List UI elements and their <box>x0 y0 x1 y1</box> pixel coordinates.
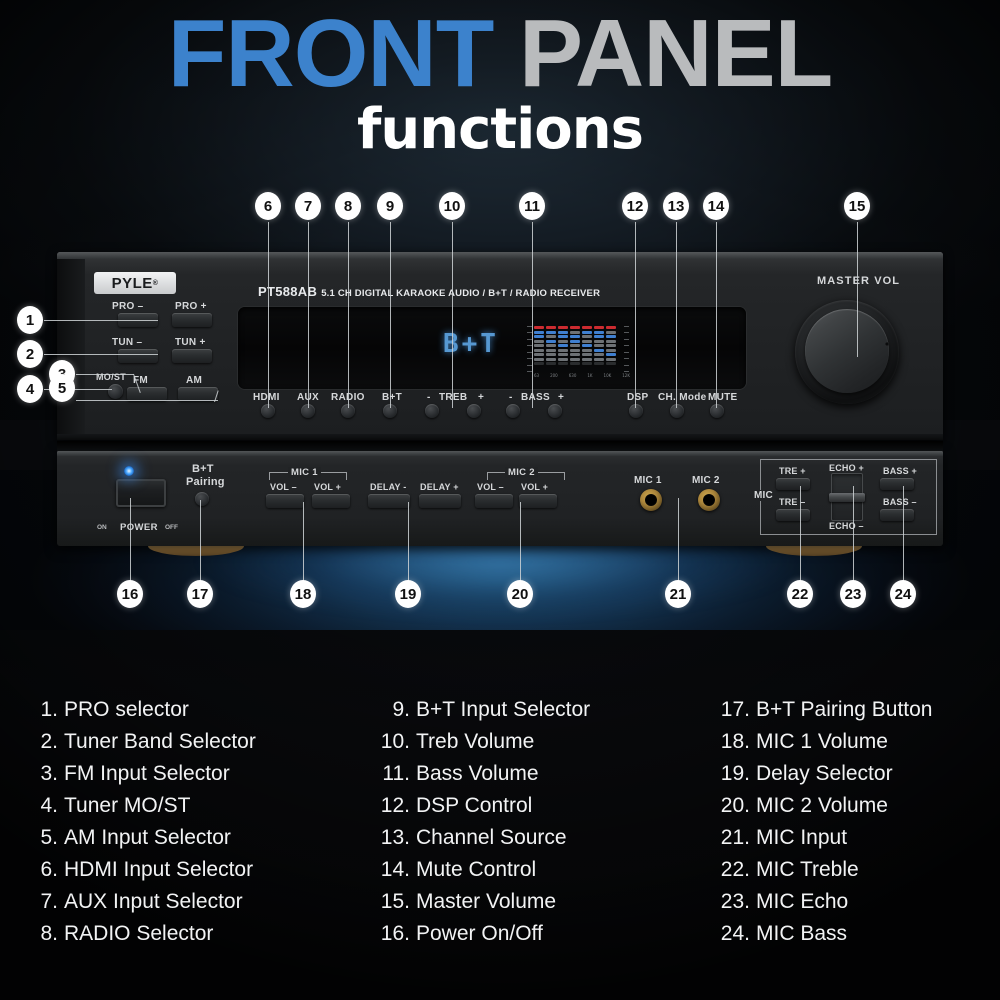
legend-item: 23.MIC Echo <box>716 886 932 918</box>
button-mic-tre-plus[interactable] <box>776 478 810 490</box>
label-mic-tre-plus: TRE + <box>779 466 806 476</box>
leader-7 <box>308 222 309 408</box>
label-bass-minus: - <box>509 392 513 403</box>
button-mic1-vol-minus[interactable] <box>266 494 304 508</box>
callout-marker-21: 21 <box>665 580 691 608</box>
legend-item: 4.Tuner MO/ST <box>24 790 256 822</box>
legend-item-number: 24. <box>716 918 750 950</box>
leader-17 <box>200 500 201 582</box>
leader-16 <box>130 498 131 582</box>
legend-item-label: MIC Bass <box>756 922 847 945</box>
legend-item: 22.MIC Treble <box>716 854 932 886</box>
legend-item-number: 7. <box>24 886 58 918</box>
legend-item: 6.HDMI Input Selector <box>24 854 256 886</box>
label-mic-echo-minus: ECHO – <box>829 521 864 531</box>
leader-13 <box>676 222 677 408</box>
legend-item: 18.MIC 1 Volume <box>716 726 932 758</box>
label-mic2-vol-minus: VOL – <box>477 482 504 492</box>
legend-item-label: Mute Control <box>416 858 536 881</box>
spectrum-analyzer <box>534 326 618 372</box>
spectrum-right-scale <box>624 326 629 372</box>
leader-19 <box>408 502 409 582</box>
vfd-display: B+T <box>238 307 746 389</box>
legend-item: 12.DSP Control <box>376 790 590 822</box>
callout-marker-23: 23 <box>840 580 866 608</box>
callout-marker-19: 19 <box>395 580 421 608</box>
legend-item: 24.MIC Bass <box>716 918 932 950</box>
legend-item-label: Delay Selector <box>756 762 893 785</box>
callout-marker-18: 18 <box>290 580 316 608</box>
legend-item-label: AUX Input Selector <box>64 890 243 913</box>
chassis-left-edge <box>57 259 85 440</box>
legend-item-label: AM Input Selector <box>64 826 231 849</box>
legend-item: 1.PRO selector <box>24 694 256 726</box>
leader-20 <box>520 502 521 582</box>
leader-2 <box>44 354 158 355</box>
spectrum-column <box>546 326 556 372</box>
brand-logo: PYLE® <box>94 272 176 294</box>
knob-mo-st[interactable] <box>108 384 123 399</box>
knob-bass-minus[interactable] <box>506 404 520 418</box>
button-mic2-vol-minus[interactable] <box>475 494 513 508</box>
leader-5a <box>76 400 218 401</box>
label-treb-minus: - <box>427 392 431 403</box>
legend-column-2: 9.B+T Input Selector10.Treb Volume11.Bas… <box>376 694 590 950</box>
brand-logo-text: PYLE <box>112 275 153 292</box>
legend-item-label: MIC Treble <box>756 858 859 881</box>
callout-marker-8: 8 <box>335 192 361 220</box>
callout-marker-13: 13 <box>663 192 689 220</box>
label-mic2-jack: MIC 2 <box>692 475 720 486</box>
label-mic-section: MIC <box>752 490 775 501</box>
legend-item-number: 23. <box>716 886 750 918</box>
leader-6 <box>268 222 269 408</box>
knob-master-volume[interactable] <box>795 300 899 404</box>
spectrum-column <box>558 326 568 372</box>
leader-14 <box>716 222 717 408</box>
leader-11 <box>532 222 533 408</box>
knob-bass-plus[interactable] <box>548 404 562 418</box>
button-mic-tre-minus[interactable] <box>776 509 810 521</box>
label-power-on: ON <box>97 524 107 531</box>
legend-column-3: 17.B+T Pairing Button18.MIC 1 Volume19.D… <box>716 694 932 950</box>
button-mic2-vol-plus[interactable] <box>519 494 557 508</box>
legend-item-number: 21. <box>716 822 750 854</box>
knob-indicator-dot <box>885 342 889 346</box>
label-am: AM <box>186 375 202 386</box>
legend-item: 9.B+T Input Selector <box>376 694 590 726</box>
label-delay-plus: DELAY + <box>420 482 459 492</box>
page-title: FRONT PANEL <box>0 8 1000 100</box>
legend-item: 10.Treb Volume <box>376 726 590 758</box>
chassis-top-lip <box>57 252 943 259</box>
label-tun-minus: TUN – <box>112 337 142 348</box>
jack-hole <box>645 494 657 506</box>
button-mute[interactable] <box>710 404 724 418</box>
label-master-volume: MASTER VOL <box>817 275 900 287</box>
legend-item-label: DSP Control <box>416 794 532 817</box>
legend-item-number: 15. <box>376 886 410 918</box>
brand-trademark: ® <box>153 280 159 287</box>
infographic-stage: FRONT PANEL functions PYLE® PT588AB5.1 C… <box>0 0 1000 1000</box>
callout-marker-5: 5 <box>49 374 75 402</box>
label-mic-echo-plus: ECHO + <box>829 463 864 473</box>
legend-item: 11.Bass Volume <box>376 758 590 790</box>
title-block: FRONT PANEL functions <box>0 8 1000 158</box>
jack-mic1[interactable] <box>640 489 662 511</box>
model-description: 5.1 CH DIGITAL KARAOKE AUDIO / B+T / RAD… <box>321 288 600 299</box>
label-bt-pairing-line2: Pairing <box>186 476 225 488</box>
button-mic-bass-minus[interactable] <box>880 509 914 521</box>
label-bt-pairing-line1: B+T <box>192 463 214 475</box>
slider-mic-echo[interactable] <box>831 473 863 521</box>
callout-marker-12: 12 <box>622 192 648 220</box>
label-power: POWER <box>120 522 158 533</box>
button-delay-minus[interactable] <box>368 494 410 508</box>
legend-item-label: MIC 2 Volume <box>756 794 888 817</box>
legend-item-number: 8. <box>24 918 58 950</box>
jack-hole <box>703 494 715 506</box>
button-mic-bass-plus[interactable] <box>880 478 914 490</box>
model-name-block: PT588AB5.1 CH DIGITAL KARAOKE AUDIO / B+… <box>258 284 600 299</box>
button-fm[interactable] <box>127 387 167 401</box>
spectrum-column <box>582 326 592 372</box>
legend-item: 5.AM Input Selector <box>24 822 256 854</box>
spectrum-tick: 10K <box>604 373 612 378</box>
legend-item: 20.MIC 2 Volume <box>716 790 932 822</box>
legend-item: 3.FM Input Selector <box>24 758 256 790</box>
label-tun-plus: TUN + <box>175 337 206 348</box>
legend-item-number: 11. <box>376 758 410 790</box>
legend-item-number: 20. <box>716 790 750 822</box>
spectrum-tick: 200 <box>550 373 558 378</box>
legend-item: 17.B+T Pairing Button <box>716 694 932 726</box>
leader-15 <box>857 222 858 357</box>
legend-item-label: MIC Input <box>756 826 847 849</box>
legend-item-label: Tuner Band Selector <box>64 730 256 753</box>
leader-22 <box>800 486 801 582</box>
legend-item: 7.AUX Input Selector <box>24 886 256 918</box>
legend-item-number: 16. <box>376 918 410 950</box>
button-bt-pairing[interactable] <box>195 492 209 506</box>
leader-21 <box>678 498 679 582</box>
leader-12 <box>635 222 636 408</box>
legend-item-label: Channel Source <box>416 826 567 849</box>
spectrum-tick: 12K <box>622 373 630 378</box>
spectrum-tick: 63 <box>534 373 539 378</box>
label-mic1-vol-plus: VOL + <box>314 482 341 492</box>
legend-item-label: Tuner MO/ST <box>64 794 190 817</box>
legend-item-label: Master Volume <box>416 890 556 913</box>
legend-item-number: 3. <box>24 758 58 790</box>
slider-thumb[interactable] <box>829 493 865 502</box>
legend-item-number: 14. <box>376 854 410 886</box>
legend-item-number: 1. <box>24 694 58 726</box>
spectrum-column <box>534 326 544 372</box>
callout-marker-6: 6 <box>255 192 281 220</box>
legend-item-number: 4. <box>24 790 58 822</box>
legend-item-label: RADIO Selector <box>64 922 213 945</box>
label-power-off: OFF <box>165 524 178 531</box>
legend-item-number: 12. <box>376 790 410 822</box>
legend-item-number: 17. <box>716 694 750 726</box>
leader-10 <box>452 222 453 408</box>
label-pro-plus: PRO + <box>175 301 207 312</box>
button-ch-mode[interactable] <box>670 404 684 418</box>
legend-item-number: 18. <box>716 726 750 758</box>
label-mic-tre-minus: TRE – <box>779 497 806 507</box>
leader-23 <box>853 486 854 582</box>
title-word-front: FRONT <box>168 0 494 107</box>
knob-treb-minus[interactable] <box>425 404 439 418</box>
legend-item: 15.Master Volume <box>376 886 590 918</box>
leader-18 <box>303 502 304 582</box>
spectrum-tick: 1K <box>587 373 592 378</box>
callout-marker-11: 11 <box>519 192 545 220</box>
callout-marker-7: 7 <box>295 192 321 220</box>
label-mic2-vol-plus: VOL + <box>521 482 548 492</box>
button-delay-plus[interactable] <box>419 494 461 508</box>
legend-item-number: 6. <box>24 854 58 886</box>
label-ch-mode: CH. Mode <box>658 392 707 403</box>
chassis-gap <box>57 441 943 451</box>
legend-item-number: 2. <box>24 726 58 758</box>
label-mic1-vol-minus: VOL – <box>270 482 297 492</box>
callout-marker-22: 22 <box>787 580 813 608</box>
button-mic1-vol-plus[interactable] <box>312 494 350 508</box>
leader-24 <box>903 486 904 582</box>
legend-item: 13.Channel Source <box>376 822 590 854</box>
label-delay-minus: DELAY - <box>370 482 406 492</box>
label-treb: TREB <box>439 392 467 403</box>
button-am[interactable] <box>178 387 218 401</box>
label-pro-minus: PRO – <box>112 301 144 312</box>
legend-item-label: FM Input Selector <box>64 762 230 785</box>
page-subtitle: functions <box>0 102 1000 158</box>
callout-marker-17: 17 <box>187 580 213 608</box>
callout-marker-1: 1 <box>17 306 43 334</box>
button-tun-plus[interactable] <box>172 349 212 363</box>
label-bt: B+T <box>382 392 402 403</box>
legend-item-label: MIC 1 Volume <box>756 730 888 753</box>
leader-1 <box>44 320 158 321</box>
label-mute: MUTE <box>708 392 738 403</box>
spectrum-column <box>570 326 580 372</box>
spectrum-column <box>606 326 616 372</box>
label-mic1-group: MIC 1 <box>288 467 321 478</box>
legend-item: 8.RADIO Selector <box>24 918 256 950</box>
label-mic2-group: MIC 2 <box>505 467 538 478</box>
legend-item-number: 10. <box>376 726 410 758</box>
label-dsp: DSP <box>627 392 648 403</box>
callout-marker-10: 10 <box>439 192 465 220</box>
leader-8 <box>348 222 349 408</box>
power-switch[interactable] <box>116 479 166 507</box>
label-bass-plus: + <box>558 392 564 403</box>
label-mic-bass-minus: BASS – <box>883 497 917 507</box>
legend-item-number: 9. <box>376 694 410 726</box>
legend-item-number: 13. <box>376 822 410 854</box>
callout-marker-20: 20 <box>507 580 533 608</box>
button-pro-plus[interactable] <box>172 313 212 327</box>
legend-item-label: Bass Volume <box>416 762 539 785</box>
legend-item-number: 5. <box>24 822 58 854</box>
legend-item-label: Power On/Off <box>416 922 543 945</box>
legend-item-label: B+T Pairing Button <box>756 698 932 721</box>
callout-marker-9: 9 <box>377 192 403 220</box>
legend-item-number: 22. <box>716 854 750 886</box>
legend-item-label: HDMI Input Selector <box>64 858 253 881</box>
callout-marker-14: 14 <box>703 192 729 220</box>
legend-item-label: MIC Echo <box>756 890 848 913</box>
button-tun-minus[interactable] <box>118 349 158 363</box>
label-mic-bass-plus: BASS + <box>883 466 917 476</box>
callout-marker-16: 16 <box>117 580 143 608</box>
spectrum-tick: 630 <box>569 373 577 378</box>
title-word-panel: PANEL <box>519 0 832 107</box>
leader-9 <box>390 222 391 408</box>
legend-item: 21.MIC Input <box>716 822 932 854</box>
legend-item-label: PRO selector <box>64 698 189 721</box>
spectrum-frequency-labels: 63 200 630 1K 10K 12K <box>534 373 630 378</box>
power-led-indicator <box>124 466 134 476</box>
label-bass: BASS <box>521 392 550 403</box>
button-dsp[interactable] <box>629 404 643 418</box>
jack-mic2[interactable] <box>698 489 720 511</box>
callout-marker-4: 4 <box>17 375 43 403</box>
legend-item-label: B+T Input Selector <box>416 698 590 721</box>
callout-marker-2: 2 <box>17 340 43 368</box>
legend-column-1: 1.PRO selector2.Tuner Band Selector3.FM … <box>24 694 256 950</box>
legend-item: 16.Power On/Off <box>376 918 590 950</box>
chassis-bottom-edge <box>57 434 943 440</box>
label-hdmi: HDMI <box>253 392 280 403</box>
leader-3a <box>76 374 134 375</box>
legend-item-label: Treb Volume <box>416 730 534 753</box>
legend-item: 14.Mute Control <box>376 854 590 886</box>
legend-item-number: 19. <box>716 758 750 790</box>
legend-item: 2.Tuner Band Selector <box>24 726 256 758</box>
label-treb-plus: + <box>478 392 484 403</box>
knob-face <box>805 309 889 393</box>
spectrum-column <box>594 326 604 372</box>
callout-marker-15: 15 <box>844 192 870 220</box>
callout-marker-24: 24 <box>890 580 916 608</box>
label-mic1-jack: MIC 1 <box>634 475 662 486</box>
legend-item: 19.Delay Selector <box>716 758 932 790</box>
knob-treb-plus[interactable] <box>467 404 481 418</box>
